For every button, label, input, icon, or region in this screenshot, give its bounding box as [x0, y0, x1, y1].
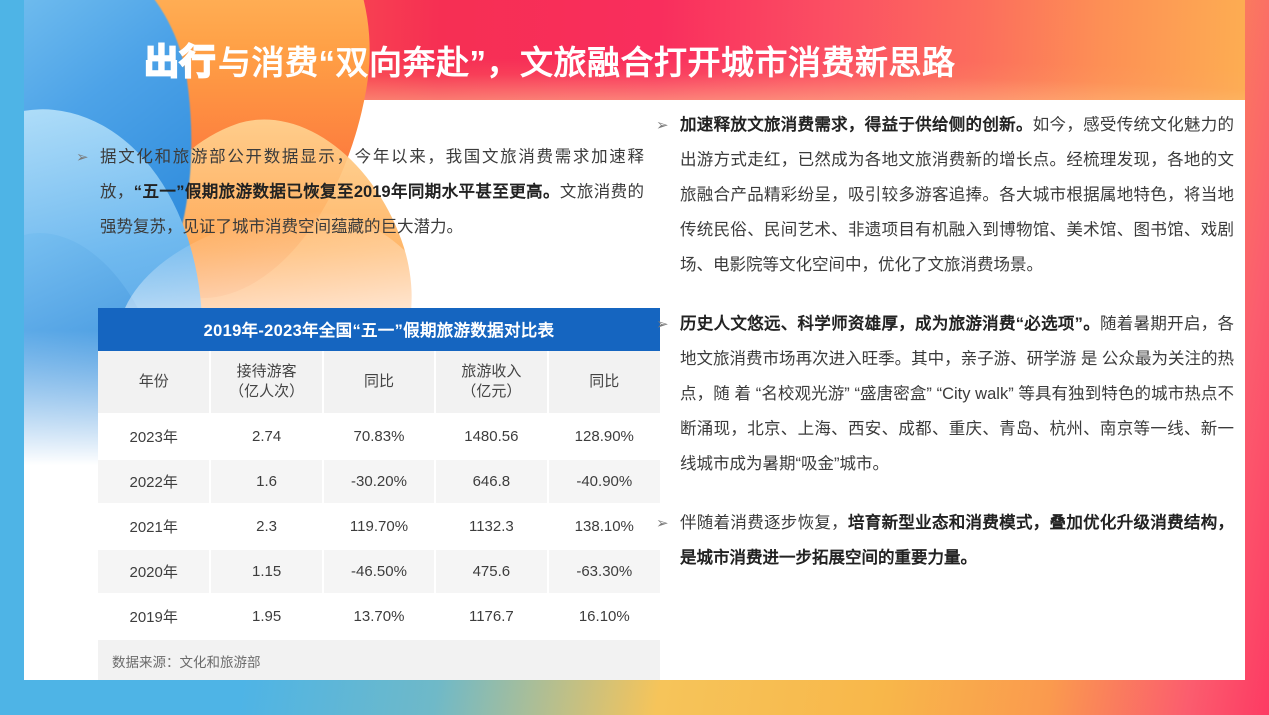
table-row: 2021年2.3119.70%1132.3138.10% — [98, 504, 660, 549]
bullet-item: ➢ 据文化和旅游部公开数据显示，今年以来，我国文旅消费需求加速释放，“五一”假期… — [74, 140, 644, 245]
header-line-1: 同比 — [589, 373, 619, 390]
table-row: 2020年1.15-46.50%475.6-63.30% — [98, 549, 660, 594]
table-header-cell: 同比 — [548, 351, 660, 414]
arrow-bullet-icon: ➢ — [654, 108, 680, 143]
table-cell: 1132.3 — [435, 504, 547, 549]
table-body: 2023年2.7470.83%1480.56128.90%2022年1.6-30… — [98, 414, 660, 639]
arrow-bullet-icon: ➢ — [74, 140, 100, 175]
table-cell: 1176.7 — [435, 594, 547, 639]
table-cell: -63.30% — [548, 549, 660, 594]
bullet-item: ➢ 加速释放文旅消费需求，得益于供给侧的创新。如今，感受传统文化魅力的出游方式走… — [654, 108, 1234, 283]
text-run-bold: “五一”假期旅游数据已恢复至2019年同期水平甚至更高。 — [134, 183, 560, 201]
table-cell: 128.90% — [548, 414, 660, 459]
header-line-2: （亿人次） — [229, 383, 304, 400]
table-cell: 475.6 — [435, 549, 547, 594]
bullet-paragraph-text: 历史人文悠远、科学师资雄厚，成为旅游消费“必选项”。随着暑期开启，各地文旅消费市… — [680, 307, 1234, 482]
table-cell: -46.50% — [323, 549, 435, 594]
right-column: ➢ 加速释放文旅消费需求，得益于供给侧的创新。如今，感受传统文化魅力的出游方式走… — [654, 108, 1234, 600]
table-head: 年份 接待游客 （亿人次） 同比 旅游收入 （亿元） — [98, 351, 660, 414]
table-foot: 数据来源：文化和旅游部 — [98, 639, 660, 680]
table-cell: 2019年 — [98, 594, 210, 639]
table-cell: 70.83% — [323, 414, 435, 459]
table-cell: 1.6 — [210, 459, 322, 504]
table-header-cell: 同比 — [323, 351, 435, 414]
table-source-row: 数据来源：文化和旅游部 — [98, 639, 660, 680]
text-run: 随着暑期开启，各地文旅消费市场再次进入旺季。其中，亲子游、研学游 是 公众最为关… — [680, 315, 1234, 473]
header-line-1: 同比 — [364, 373, 394, 390]
travel-data-table: 2019年-2023年全国“五一”假期旅游数据对比表 年份 接待游客 （亿人次） — [98, 308, 660, 680]
table-cell: 2022年 — [98, 459, 210, 504]
table-cell: 13.70% — [323, 594, 435, 639]
table-cell: 1480.56 — [435, 414, 547, 459]
table-cell: 1.95 — [210, 594, 322, 639]
table-source-cell: 数据来源：文化和旅游部 — [98, 639, 660, 680]
left-column: ➢ 据文化和旅游部公开数据显示，今年以来，我国文旅消费需求加速释放，“五一”假期… — [74, 140, 644, 269]
table-cell: 138.10% — [548, 504, 660, 549]
table-row: 2019年1.9513.70%1176.716.10% — [98, 594, 660, 639]
table-cell: 2.74 — [210, 414, 322, 459]
arrow-bullet-icon: ➢ — [654, 506, 680, 541]
table-header-row: 年份 接待游客 （亿人次） 同比 旅游收入 （亿元） — [98, 351, 660, 414]
table-row: 2023年2.7470.83%1480.56128.90% — [98, 414, 660, 459]
table-cell: -30.20% — [323, 459, 435, 504]
table-cell: 2.3 — [210, 504, 322, 549]
header-line-1: 年份 — [139, 373, 169, 390]
slide: 出行 与消费“双向奔赴”，文旅融合打开城市消费新思路 ➢ 据文化和旅游部公开数据… — [0, 0, 1269, 715]
table-cell: 2020年 — [98, 549, 210, 594]
bullet-paragraph-text: 伴随着消费逐步恢复，培育新型业态和消费模式，叠加优化升级消费结构，是城市消费进一… — [680, 506, 1234, 576]
table-header-cell: 年份 — [98, 351, 210, 414]
bullet-item: ➢ 伴随着消费逐步恢复，培育新型业态和消费模式，叠加优化升级消费结构，是城市消费… — [654, 506, 1234, 576]
page-title-accent: 出行 — [144, 45, 218, 80]
text-run: 如今，感受传统文化魅力的出游方式走红，已然成为各地文旅消费新的增长点。经梳理发现… — [680, 116, 1234, 274]
header-line-2: （亿元） — [461, 383, 521, 400]
bullet-item: ➢ 历史人文悠远、科学师资雄厚，成为旅游消费“必选项”。随着暑期开启，各地文旅消… — [654, 307, 1234, 482]
text-run-bold: 历史人文悠远、科学师资雄厚，成为旅游消费“必选项”。 — [680, 315, 1100, 333]
slide-content: ➢ 据文化和旅游部公开数据显示，今年以来，我国文旅消费需求加速释放，“五一”假期… — [24, 100, 1245, 680]
page-title: 出行 与消费“双向奔赴”，文旅融合打开城市消费新思路 — [144, 38, 956, 86]
slide-card: 出行 与消费“双向奔赴”，文旅融合打开城市消费新思路 ➢ 据文化和旅游部公开数据… — [24, 0, 1245, 680]
table-cell: 646.8 — [435, 459, 547, 504]
table-cell: 2021年 — [98, 504, 210, 549]
table-cell: 2023年 — [98, 414, 210, 459]
table-cell: 119.70% — [323, 504, 435, 549]
text-run-bold: 加速释放文旅消费需求，得益于供给侧的创新。 — [680, 116, 1033, 134]
bullet-paragraph-text: 据文化和旅游部公开数据显示，今年以来，我国文旅消费需求加速释放，“五一”假期旅游… — [100, 140, 644, 245]
table-header-cell: 旅游收入 （亿元） — [435, 351, 547, 414]
table-cell: 16.10% — [548, 594, 660, 639]
page-title-main: 与消费“双向奔赴”，文旅融合打开城市消费新思路 — [218, 46, 956, 79]
bullet-paragraph-text: 加速释放文旅消费需求，得益于供给侧的创新。如今，感受传统文化魅力的出游方式走红，… — [680, 108, 1234, 283]
table-cell: 1.15 — [210, 549, 322, 594]
table-header-cell: 接待游客 （亿人次） — [210, 351, 322, 414]
arrow-bullet-icon: ➢ — [654, 307, 680, 342]
header-line-1: 旅游收入 — [461, 363, 521, 380]
text-run: 伴随着消费逐步恢复， — [680, 514, 848, 532]
data-table-container: 2019年-2023年全国“五一”假期旅游数据对比表 年份 接待游客 （亿人次） — [98, 308, 660, 680]
table-row: 2022年1.6-30.20%646.8-40.90% — [98, 459, 660, 504]
table-caption: 2019年-2023年全国“五一”假期旅游数据对比表 — [98, 308, 660, 351]
header-line-1: 接待游客 — [237, 363, 297, 380]
table-cell: -40.90% — [548, 459, 660, 504]
